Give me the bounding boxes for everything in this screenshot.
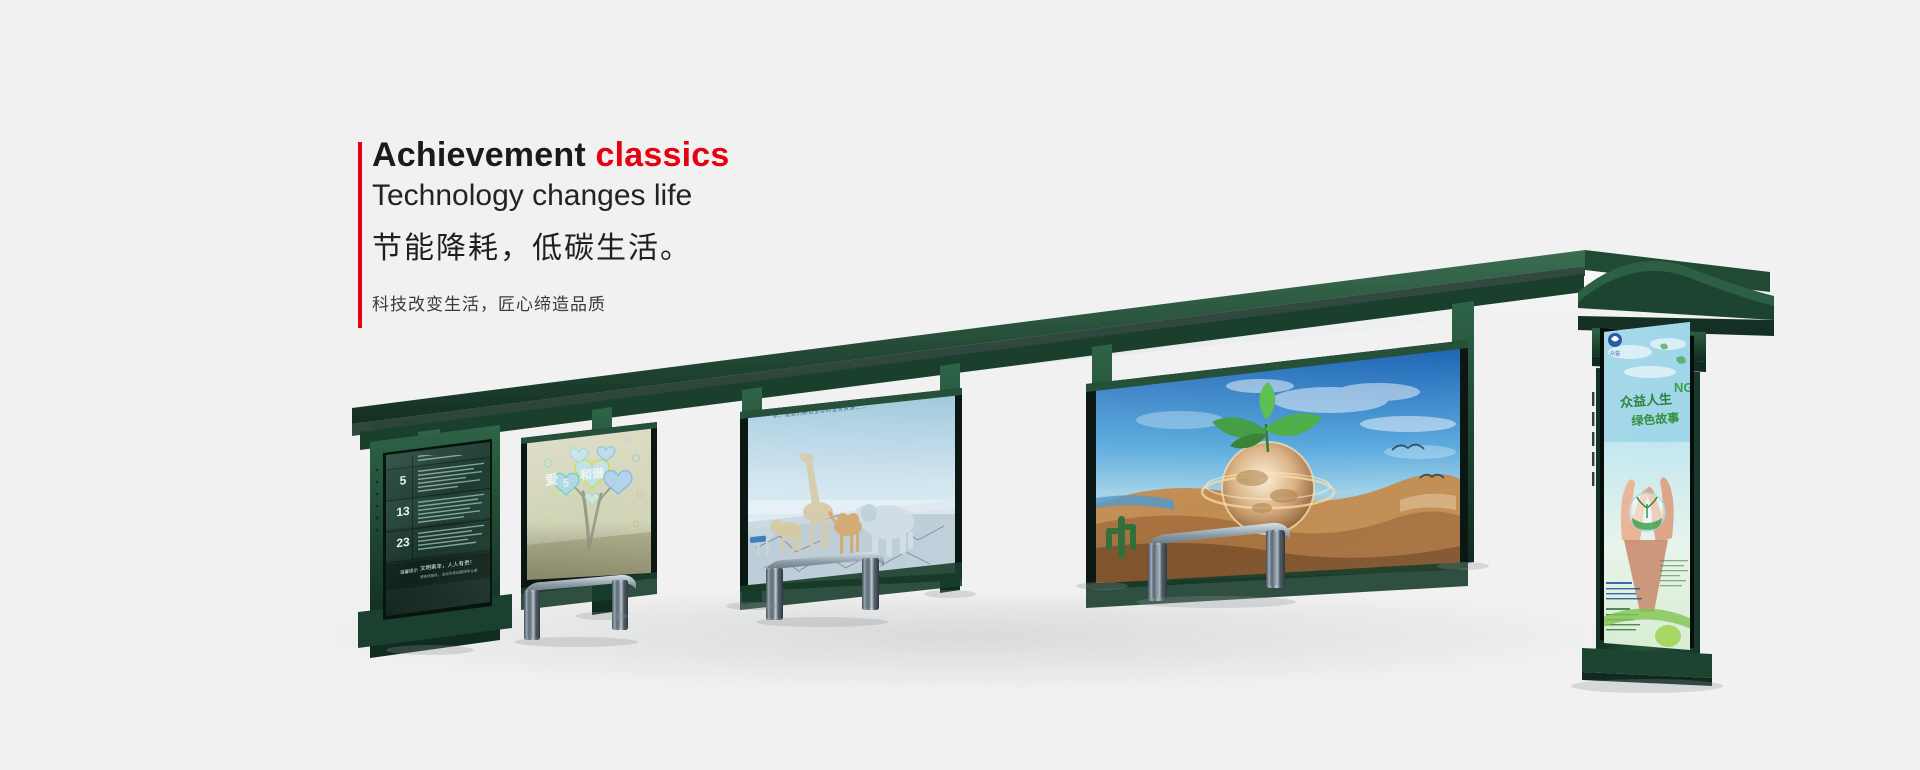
- svg-text:零陵体育馆: 零陵体育馆: [405, 0, 471, 2]
- panel-bus-route-sign: 零陵体育馆 Lingling Gymnasium 3 5: [358, 0, 512, 658]
- scene-canvas: Achievement classics Technology changes …: [0, 0, 1920, 770]
- svg-text:Lingling Gymnasium: Lingling Gymnasium: [414, 0, 462, 8]
- tower-vent-slots: [1592, 392, 1594, 486]
- end-tower: 众益 众益人生 绿色故事 NGO: [1578, 261, 1774, 686]
- bus-shelter-product: 零陵体育馆 Lingling Gymnasium 3 5: [0, 0, 1920, 770]
